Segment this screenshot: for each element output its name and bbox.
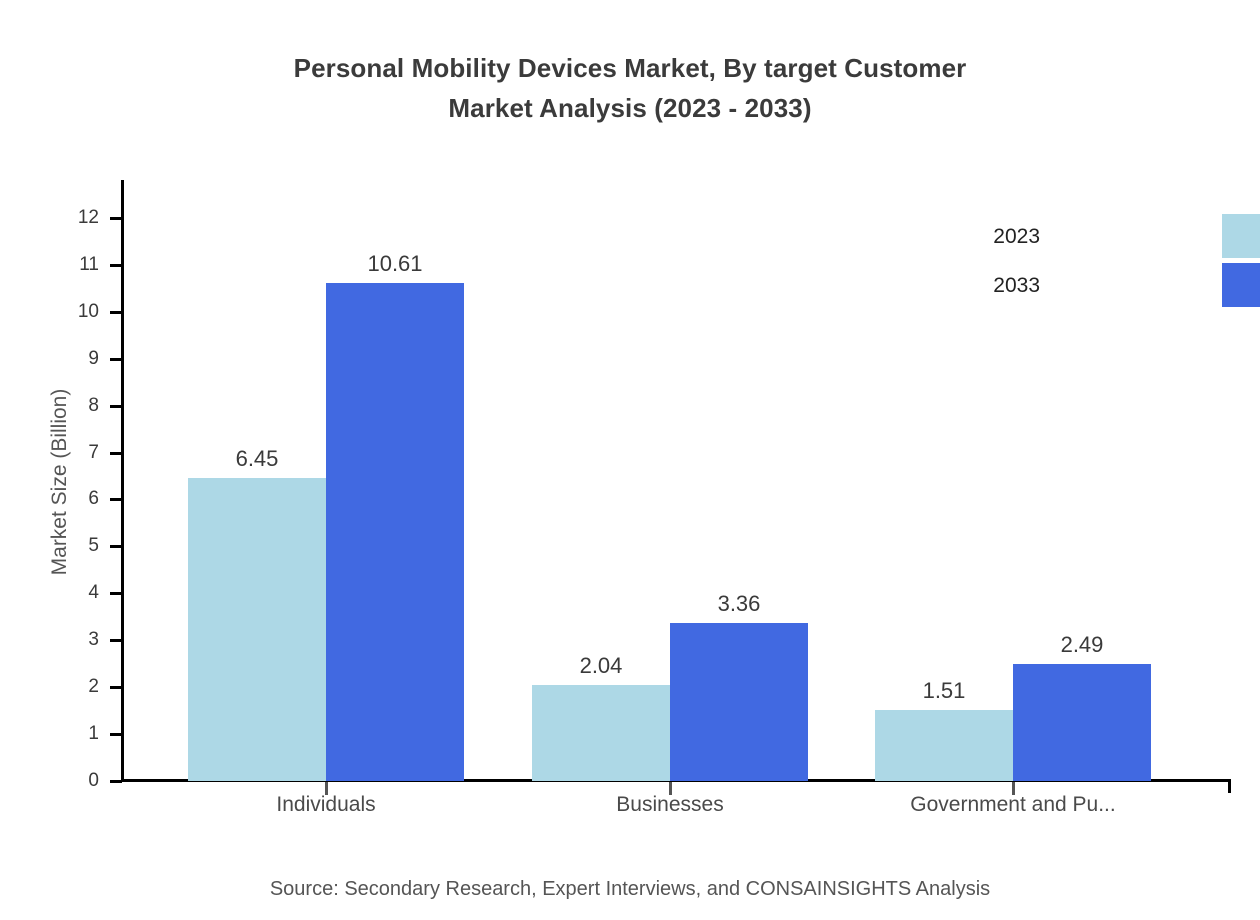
y-tick-2 <box>110 686 122 689</box>
x-axis-end-tick <box>1228 779 1231 793</box>
bar-2033-businesses[interactable] <box>670 623 808 781</box>
bar-value-label: 3.36 <box>718 591 761 617</box>
y-tick-6 <box>110 498 122 501</box>
y-tick-label-1: 1 <box>3 723 99 745</box>
bar-value-label: 2.49 <box>1061 632 1104 658</box>
y-tick-label-3: 3 <box>3 629 99 651</box>
bar-2023-businesses[interactable] <box>532 685 670 781</box>
y-tick-9 <box>110 358 122 361</box>
bar-value-label: 2.04 <box>580 653 623 679</box>
legend-label-2033: 2033 <box>993 274 1040 298</box>
y-tick-0 <box>110 780 122 783</box>
bar-2033-government-and-pu-[interactable] <box>1013 664 1151 781</box>
y-tick-label-0: 0 <box>3 770 99 792</box>
legend-label-2023: 2023 <box>993 225 1040 249</box>
x-tick-label-0: Individuals <box>276 793 375 817</box>
y-tick-label-10: 10 <box>3 301 99 323</box>
source-note: Source: Secondary Research, Expert Inter… <box>0 878 1260 901</box>
y-tick-3 <box>110 639 122 642</box>
legend-swatch-2033 <box>1222 263 1260 307</box>
bar-2023-individuals[interactable] <box>188 478 326 781</box>
y-tick-label-12: 12 <box>3 207 99 229</box>
y-tick-label-5: 5 <box>3 535 99 557</box>
bar-value-label: 1.51 <box>923 678 966 704</box>
x-tick-label-2: Government and Pu... <box>910 793 1115 817</box>
y-tick-label-7: 7 <box>3 442 99 464</box>
y-tick-4 <box>110 592 122 595</box>
x-tick-label-1: Businesses <box>616 793 723 817</box>
bar-value-label: 6.45 <box>236 446 279 472</box>
y-tick-1 <box>110 733 122 736</box>
y-tick-8 <box>110 405 122 408</box>
legend-swatch-2023 <box>1222 214 1260 258</box>
y-axis-line <box>121 180 124 781</box>
y-tick-10 <box>110 311 122 314</box>
y-tick-label-9: 9 <box>3 348 99 370</box>
y-tick-label-2: 2 <box>3 676 99 698</box>
y-tick-11 <box>110 264 122 267</box>
y-tick-label-11: 11 <box>3 254 99 276</box>
bar-2023-government-and-pu-[interactable] <box>875 710 1013 781</box>
plot-area: Market Size (Billion) 0123456789101112 6… <box>0 0 1260 920</box>
y-tick-5 <box>110 545 122 548</box>
y-tick-label-8: 8 <box>3 395 99 417</box>
bar-chart: Personal Mobility Devices Market, By tar… <box>0 0 1260 920</box>
bar-value-label: 10.61 <box>367 251 422 277</box>
bar-2033-individuals[interactable] <box>326 283 464 781</box>
y-tick-7 <box>110 452 122 455</box>
y-tick-12 <box>110 217 122 220</box>
y-tick-label-6: 6 <box>3 488 99 510</box>
y-tick-label-4: 4 <box>3 582 99 604</box>
